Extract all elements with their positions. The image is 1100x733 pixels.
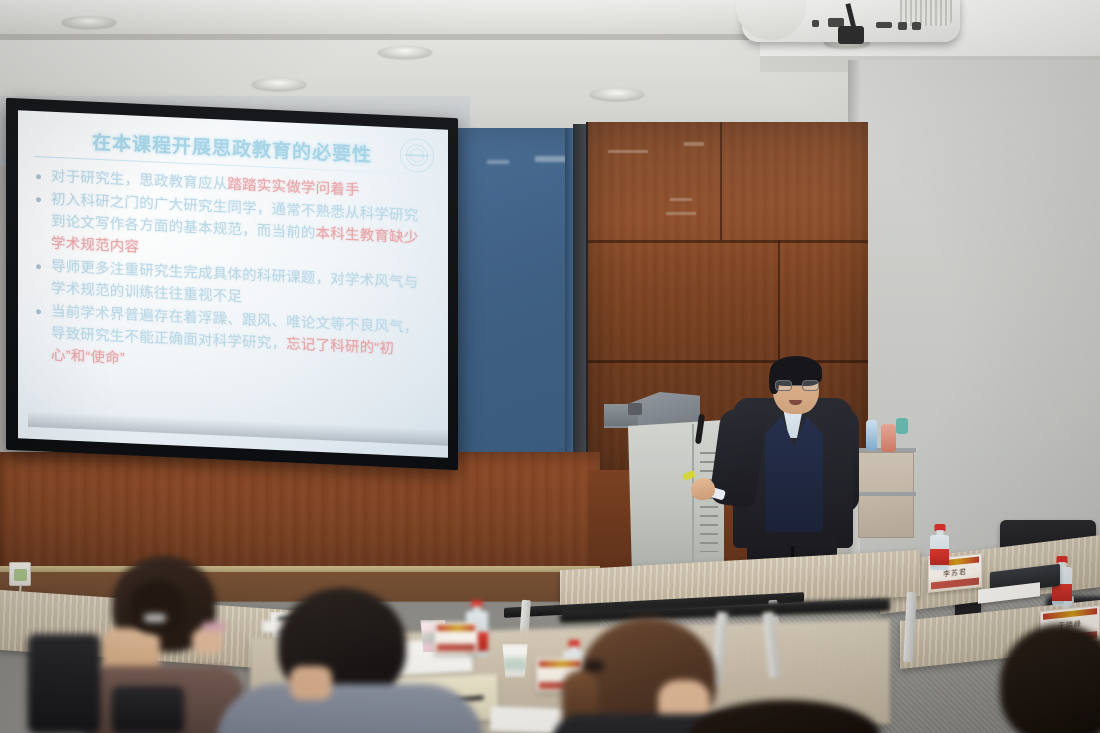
audience-chair-2 (112, 686, 184, 733)
audience-6-hair (690, 700, 880, 733)
audience-chair-1 (28, 634, 100, 733)
projector-port-1 (812, 20, 819, 27)
audience-4-hair-tie (584, 660, 604, 672)
projector-vent (900, 0, 952, 26)
projection-screen-frame: 在本课程开展思政教育的必要性 对于研究生，思政教育应从踏踏实实做学问着手初入科研… (6, 98, 458, 471)
downlight-4 (590, 88, 644, 100)
ceiling-soffit (0, 0, 760, 36)
wall-power-outlet (9, 562, 31, 586)
slide-bullet-highlight: 踏踏实实做学问着手 (227, 177, 359, 199)
projector-port-usb (912, 22, 921, 30)
projection-screen-surface: 在本课程开展思政教育的必要性 对于研究生，思政教育应从踏踏实实做学问着手初入科研… (18, 110, 448, 458)
wood-seam-v2 (778, 240, 780, 360)
audience-2-hairclip (144, 614, 166, 622)
audience-1-glasses (202, 622, 226, 631)
audience-3-neck (290, 666, 332, 700)
projector-port-audio (876, 22, 892, 28)
outlet-socket (14, 569, 27, 581)
university-emblem-icon (400, 138, 434, 174)
audience-1-face-edge (192, 628, 222, 654)
projector-port-hdmi (898, 22, 907, 30)
wood-scuff-3 (670, 198, 692, 201)
wood-seam-1 (588, 240, 868, 243)
shelf-bottle-teal (896, 418, 908, 434)
shelf-bottle-blue (866, 420, 877, 450)
wood-scuff-1 (608, 150, 648, 153)
downlight-2 (378, 46, 432, 58)
downlight-1 (62, 16, 116, 28)
projector-mount (838, 26, 864, 44)
presentation-slide: 在本课程开展思政教育的必要性 对于研究生，思政教育应从踏踏实实做学问着手初入科研… (18, 110, 448, 458)
downlight-3 (252, 78, 306, 90)
audience-2-hair-bun (130, 580, 186, 634)
water-bottle-1 (930, 524, 949, 570)
slide-bullet-list: 对于研究生，思政教育应从踏踏实实做学问着手初入科研之门的广大研究生同学，通常不熟… (32, 165, 432, 384)
soffit-edge (0, 34, 770, 40)
wood-seam-v1 (720, 122, 722, 240)
shelf-bottle-red (881, 424, 896, 452)
presenter (733, 360, 853, 580)
wood-scuff-4 (666, 212, 696, 215)
wood-scuff-2 (684, 142, 704, 146)
shelf-rail-mid (856, 492, 916, 496)
audience-person-2 (130, 580, 190, 650)
audience-person-3 (236, 588, 466, 733)
audience-3-blazer (216, 684, 484, 733)
audience-5-hair (1000, 624, 1100, 733)
board-smudge-2 (487, 160, 509, 164)
audience-person-6 (690, 700, 880, 733)
lecture-hall-photo: DOBUS 在本课程开展思政教育的必要性 对于研究生，思 (0, 0, 1100, 733)
lectern-knob (628, 403, 642, 415)
slide-title: 在本课程开展思政教育的必要性 (32, 125, 432, 170)
presenter-glasses (775, 380, 819, 391)
audience-person-5 (1000, 624, 1100, 733)
